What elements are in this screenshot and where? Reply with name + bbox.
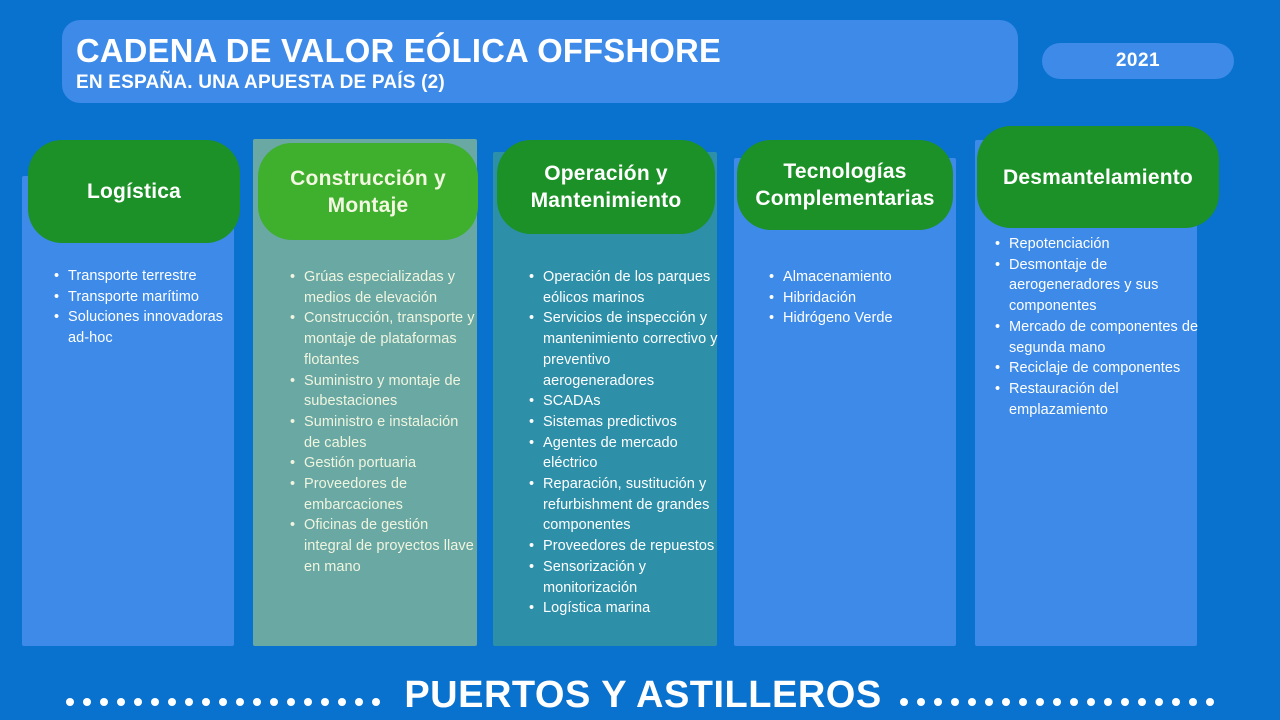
dot-icon	[1138, 698, 1146, 706]
dot-icon	[1002, 698, 1010, 706]
dot-icon	[321, 698, 329, 706]
dot-icon	[304, 698, 312, 706]
column-list-desmantelamiento: RepotenciaciónDesmontaje de aerogenerado…	[993, 234, 1211, 420]
footer-label: PUERTOS Y ASTILLEROS	[380, 675, 899, 715]
dot-icon	[100, 698, 108, 706]
dot-icon	[968, 698, 976, 706]
dot-icon	[168, 698, 176, 706]
list-item: Restauración del emplazamiento	[993, 379, 1211, 420]
dot-icon	[1087, 698, 1095, 706]
footer-dots-right	[900, 680, 1214, 710]
dot-icon	[900, 698, 908, 706]
column-header-pill-desmantelamiento[interactable]: Desmantelamiento	[977, 126, 1219, 228]
dot-icon	[1155, 698, 1163, 706]
dot-icon	[985, 698, 993, 706]
column-desmantelamiento: DesmantelamientoRepotenciaciónDesmontaje…	[0, 0, 1280, 660]
list-item: Desmontaje de aerogeneradores y sus comp…	[993, 255, 1211, 317]
dot-icon	[1104, 698, 1112, 706]
dot-icon	[934, 698, 942, 706]
dot-icon	[202, 698, 210, 706]
list-item: Repotenciación	[993, 234, 1211, 255]
dot-icon	[355, 698, 363, 706]
dot-icon	[117, 698, 125, 706]
dot-icon	[134, 698, 142, 706]
dot-icon	[1036, 698, 1044, 706]
footer-dots-left	[66, 680, 380, 710]
list-item: Reciclaje de componentes	[993, 358, 1211, 379]
dot-icon	[1053, 698, 1061, 706]
column-title-desmantelamiento: Desmantelamiento	[995, 164, 1201, 191]
footer-banner: PUERTOS Y ASTILLEROS	[0, 652, 1280, 720]
dot-icon	[1121, 698, 1129, 706]
dot-icon	[338, 698, 346, 706]
dot-icon	[372, 698, 380, 706]
dot-icon	[1189, 698, 1197, 706]
dot-icon	[66, 698, 74, 706]
list-item: Mercado de componentes de segunda mano	[993, 317, 1211, 358]
dot-icon	[151, 698, 159, 706]
dot-icon	[917, 698, 925, 706]
dot-icon	[236, 698, 244, 706]
dot-icon	[185, 698, 193, 706]
dot-icon	[253, 698, 261, 706]
dot-icon	[287, 698, 295, 706]
dot-icon	[83, 698, 91, 706]
dot-icon	[219, 698, 227, 706]
dot-icon	[1172, 698, 1180, 706]
dot-icon	[270, 698, 278, 706]
dot-icon	[1019, 698, 1027, 706]
dot-icon	[1206, 698, 1214, 706]
dot-icon	[1070, 698, 1078, 706]
dot-icon	[951, 698, 959, 706]
value-chain-columns: LogísticaTransporte terrestreTransporte …	[0, 0, 1280, 660]
